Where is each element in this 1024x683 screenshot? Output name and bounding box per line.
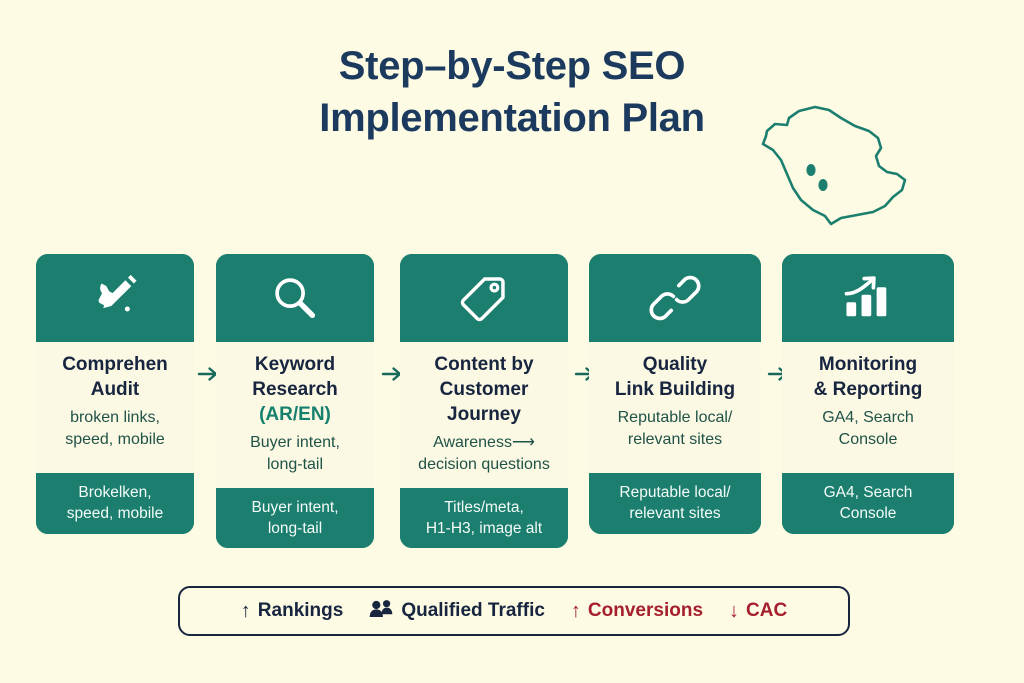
step-card-3-title-line-3: Journey <box>447 404 521 425</box>
seo-implementation-infographic: Step–by-Step SEO Implementation Plan <box>0 0 1024 683</box>
step-card-4-title-line-2: Link Building <box>615 379 735 400</box>
arrow-up-icon: ↑ <box>241 601 251 621</box>
step-card-1-body: Comprehen Audit broken links, speed, mob… <box>36 342 194 473</box>
arrow-down-icon: ↓ <box>729 601 739 621</box>
step-card-4-title: Quality Link Building <box>597 352 753 402</box>
steps-row: Comprehen Audit broken links, speed, mob… <box>36 254 988 554</box>
step-card-1-footer-line-1: Brokelken, <box>78 484 151 501</box>
legend-item-conversions-label: Conversions <box>588 600 703 622</box>
step-card-3-title-line-2: Customer <box>440 379 529 400</box>
step-card-4-title-line-1: Quality <box>643 354 707 375</box>
saudi-arabia-map-icon <box>745 98 925 228</box>
step-card-5-title-line-2: & Reporting <box>814 379 923 400</box>
legend-item-cac-label: CAC <box>746 600 787 622</box>
bar-chart-growth-icon <box>782 254 954 342</box>
step-card-1-title-line-2: Audit <box>91 379 140 400</box>
step-card-1-footer-line-2: speed, mobile <box>67 505 164 522</box>
step-card-1-subtitle-line-2: speed, mobile <box>65 431 165 448</box>
legend-item-cac[interactable]: ↓ CAC <box>729 600 787 622</box>
step-card-3-subtitle-line-1: Awareness⟶ <box>433 434 535 451</box>
step-card-2-title-accent: (AR/EN) <box>259 404 331 425</box>
step-card-4-subtitle-line-1: Reputable local/ <box>618 409 733 426</box>
step-card-5-footer-line-1: GA4, Search <box>824 484 913 501</box>
step-card-3-subtitle: Awareness⟶ decision questions <box>408 432 560 476</box>
page-title-line-1: Step–by-Step SEO <box>0 40 1024 92</box>
step-card-1-title: Comprehen Audit <box>44 352 186 402</box>
people-group-icon <box>369 599 394 624</box>
step-card-2-subtitle-line-2: long-tail <box>267 456 323 473</box>
step-card-3-subtitle-line-2: decision questions <box>418 456 550 473</box>
step-card-3[interactable]: Content by Customer Journey Awareness⟶ d… <box>400 254 568 548</box>
step-card-2-title-line-1: Keyword <box>255 354 335 375</box>
step-card-3-footer-line-2: H1-H3, image alt <box>426 520 542 537</box>
chain-link-icon <box>589 254 761 342</box>
step-card-3-title: Content by Customer Journey <box>408 352 560 427</box>
step-card-1-footer: Brokelken, speed, mobile <box>36 473 194 534</box>
step-card-5[interactable]: Monitoring & Reporting GA4, Search Conso… <box>782 254 954 534</box>
step-card-5-body: Monitoring & Reporting GA4, Search Conso… <box>782 342 954 473</box>
step-card-5-footer: GA4, Search Console <box>782 473 954 534</box>
step-card-5-title-line-1: Monitoring <box>819 354 917 375</box>
legend-item-conversions[interactable]: ↑ Conversions <box>571 600 703 622</box>
step-card-1-subtitle: broken links, speed, mobile <box>44 407 186 451</box>
legend-item-rankings[interactable]: ↑ Rankings <box>241 600 344 622</box>
step-card-4-footer-line-2: relevant sites <box>629 505 720 522</box>
step-card-5-title: Monitoring & Reporting <box>790 352 946 402</box>
tools-wrench-pencil-icon <box>36 254 194 342</box>
step-card-1[interactable]: Comprehen Audit broken links, speed, mob… <box>36 254 194 534</box>
step-card-2-footer: Buyer intent, long-tail <box>216 488 374 548</box>
arrow-up-icon: ↑ <box>571 601 581 621</box>
kpi-legend-bar: ↑ Rankings Qualified Traffic ↑ Conversio… <box>178 586 850 636</box>
step-card-4-subtitle: Reputable local/ relevant sites <box>597 407 753 451</box>
step-card-1-title-line-1: Comprehen <box>62 354 168 375</box>
magnifier-search-icon <box>216 254 374 342</box>
legend-item-qualified-traffic-label: Qualified Traffic <box>401 600 545 622</box>
step-card-2-subtitle: Buyer intent, long-tail <box>224 432 366 476</box>
step-card-2-title: Keyword Research (AR/EN) <box>224 352 366 427</box>
step-card-4-footer: Reputable local/ relevant sites <box>589 473 761 534</box>
legend-item-rankings-label: Rankings <box>258 600 344 622</box>
step-card-5-subtitle: GA4, Search Console <box>790 407 946 451</box>
step-card-5-subtitle-line-2: Console <box>839 431 898 448</box>
step-card-4-body: Quality Link Building Reputable local/ r… <box>589 342 761 473</box>
step-card-3-title-line-1: Content by <box>434 354 533 375</box>
step-card-3-footer: Titles/meta, H1-H3, image alt <box>400 488 568 548</box>
step-card-2-footer-line-2: long-tail <box>268 520 322 537</box>
step-card-4-subtitle-line-2: relevant sites <box>628 431 722 448</box>
step-card-4[interactable]: Quality Link Building Reputable local/ r… <box>589 254 761 534</box>
step-card-2-footer-line-1: Buyer intent, <box>251 499 338 516</box>
step-card-2-subtitle-line-1: Buyer intent, <box>250 434 340 451</box>
tag-label-icon <box>400 254 568 342</box>
step-card-3-body: Content by Customer Journey Awareness⟶ d… <box>400 342 568 488</box>
step-card-5-subtitle-line-1: GA4, Search <box>822 409 914 426</box>
step-card-2-title-line-2: Research <box>252 379 338 400</box>
step-card-3-footer-line-1: Titles/meta, <box>444 499 524 516</box>
step-card-2[interactable]: Keyword Research (AR/EN) Buyer intent, l… <box>216 254 374 548</box>
legend-item-qualified-traffic[interactable]: Qualified Traffic <box>369 599 545 624</box>
step-card-1-subtitle-line-1: broken links, <box>70 409 160 426</box>
step-card-5-footer-line-2: Console <box>840 505 897 522</box>
step-card-4-footer-line-1: Reputable local/ <box>619 484 730 501</box>
step-card-2-body: Keyword Research (AR/EN) Buyer intent, l… <box>216 342 374 488</box>
